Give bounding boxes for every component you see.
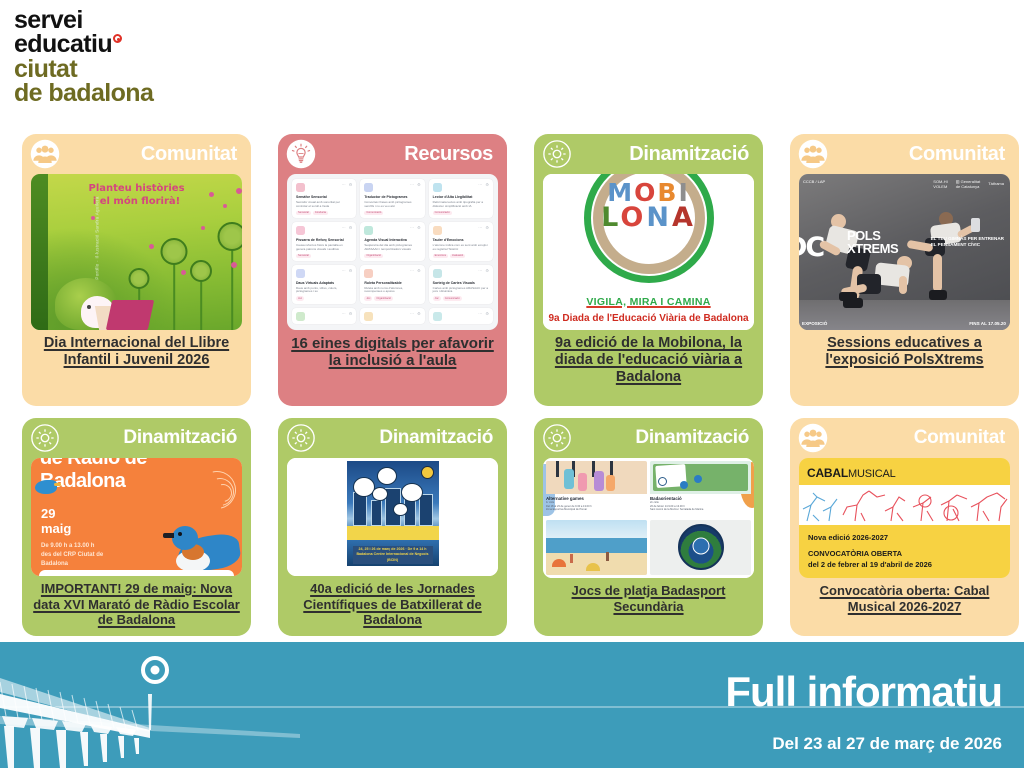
tool-tags: Joc: [296, 296, 352, 300]
cards-grid: Comunitat Text Blanca Portillo · Il·lust…: [22, 134, 1014, 636]
tool-description: Causa reforcos físics la pantalla en gen…: [296, 244, 352, 252]
tool-tag: Sensorial: [296, 211, 311, 215]
lightbulb-icon: [286, 139, 316, 169]
card-jocs-platja-badasport[interactable]: Dinamització Alternative ga: [534, 418, 763, 636]
panel-badaorientacio: Badaorientació 2n cicle20 de febrer 14.9…: [650, 461, 751, 517]
card-media-grid: Alternative games 1r cicleDel 18 al 23 d…: [543, 458, 754, 578]
tool-card[interactable]: ⋯ ⚙: [360, 308, 424, 324]
tool-description: Ruleta amb noms d'alumnes, recompenses o…: [364, 287, 420, 295]
tool-name: Ruleta Personalitzable: [364, 281, 420, 285]
photo-corner-left: CCCB / LAP: [803, 180, 825, 185]
tool-icon: [364, 312, 373, 321]
tool-menu-icon[interactable]: ⋯ ⚙: [478, 268, 490, 273]
radio-waves-icon: [190, 468, 234, 508]
tool-icon: [296, 226, 305, 235]
tool-name: Semàfor Sensorial: [296, 195, 352, 199]
tool-name: Pissarra de Reforç Sensorial: [296, 238, 352, 242]
tool-menu-icon[interactable]: ⋯ ⚙: [410, 225, 422, 230]
tool-description: Daus amb punts, xifres, colors, pictogra…: [296, 287, 352, 295]
card-media-screenshot: ⋯ ⚙Semàfor SensorialSemàfor visual amb s…: [287, 174, 498, 330]
tool-card[interactable]: ⋯ ⚙Tauler d'EmocionsL'alumne indica com …: [429, 222, 493, 261]
tool-name: Daus Virtuals Adaptats: [296, 281, 352, 285]
tool-tag: Organització: [374, 296, 393, 300]
photo-top-logos: SOM-HIVOLEM▥ Generalitatde CatalunyaTàth…: [933, 180, 1004, 189]
cabal-brand-light: MUSICAL: [848, 468, 896, 480]
card-category-label: Comunitat: [66, 143, 241, 166]
cabal-brand: CABALMUSICAL: [799, 458, 1010, 485]
cabal-info: Nova edició 2026-2027 CONVOCATÒRIA OBERT…: [799, 525, 1010, 571]
tool-card[interactable]: ⋯ ⚙Traductor de PictogramesConverteix fr…: [360, 179, 424, 218]
tool-tags: Comunicació: [364, 211, 420, 215]
photo-bottom-left: EXPOSICIÓ: [802, 321, 827, 326]
card-media-poster: MOBI LONA VIGILA, MIRA I CAMINA 9a Diada…: [543, 174, 754, 330]
tool-icon: [433, 226, 442, 235]
tool-description: Converteix frases amb pictogrames senzil…: [364, 201, 420, 209]
card-header: Dinamització: [534, 418, 763, 458]
tool-tag: Joc: [296, 296, 304, 300]
brand-mark: DC: [799, 232, 823, 263]
cabal-info-1: Nova edició 2026-2027: [808, 533, 1001, 542]
tool-icon: [296, 269, 305, 278]
panel-badasport-logo: [650, 520, 751, 576]
tool-tag: Organització: [364, 254, 383, 258]
card-category-label: Comunitat: [834, 427, 1009, 449]
tool-card[interactable]: ⋯ ⚙Daus Virtuals AdaptatsDaus amb punts,…: [292, 265, 356, 304]
card-header: Comunitat: [22, 134, 251, 174]
gear-icon: [542, 423, 572, 453]
tool-menu-icon[interactable]: ⋯ ⚙: [342, 311, 354, 316]
panel-alternative-games: Alternative games 1r cicleDel 18 al 23 d…: [546, 461, 647, 517]
tool-icon: [364, 226, 373, 235]
tool-tags: JocOrganització: [364, 296, 420, 300]
gear-icon: [286, 423, 316, 453]
tool-card[interactable]: ⋯ ⚙Semàfor SensorialSemàfor visual amb s…: [292, 179, 356, 218]
people-group-icon: [798, 423, 828, 453]
footer-date-range: Del 23 al 27 de març de 2026: [772, 734, 1002, 754]
card-title[interactable]: Dia Internacional del Llibre Infantil i …: [22, 330, 251, 377]
tool-tag: Comunicació: [364, 211, 383, 215]
photo-slogan: EL TEU GIMNÀS PER ENTRENAREL PENSAMENT C…: [931, 236, 1004, 248]
poster-month: maig: [41, 521, 71, 536]
target-icon: [141, 656, 169, 684]
cabal-brand-bold: CABAL: [807, 466, 848, 480]
tool-tags: Comunicació: [433, 211, 489, 215]
card-jornades-cientifiques[interactable]: Dinamització: [278, 418, 507, 636]
tool-name: Traductor de Pictogrames: [364, 195, 420, 199]
poster-day: 29: [41, 506, 55, 521]
tool-tags: Organització: [364, 254, 420, 258]
tool-icon: [296, 312, 305, 321]
logo-line-4: de badalona: [14, 79, 153, 107]
tool-menu-icon[interactable]: ⋯ ⚙: [410, 182, 422, 187]
tool-tag: Joc: [433, 296, 441, 300]
tool-tags: EmocionsAvaluació: [433, 254, 489, 258]
tool-tags: Sensorial: [296, 254, 352, 258]
tool-tag: Conducta: [313, 211, 328, 215]
tool-tag: Emocions: [433, 254, 448, 258]
card-header: Dinamització: [278, 418, 507, 458]
tool-description: Semàfor visual amb sonoritat per control…: [296, 201, 352, 209]
tool-description: Seqüència del dia amb pictogrames ARASAA…: [364, 244, 420, 252]
poster-word-bottom: LONA: [543, 202, 754, 233]
card-16-eines-digitals[interactable]: Recursos ⋯ ⚙Semàfor SensorialSemàfor vis…: [278, 134, 507, 406]
brand-name: POLSXTREMS: [847, 229, 898, 255]
poster-caption-2: 9a Diada de l'Educació Viària de Badalon…: [543, 313, 754, 324]
tool-description: Cartes amb pictogrames ARASAAC per a joc…: [433, 287, 489, 295]
tool-card[interactable]: ⋯ ⚙Lector d'Alta LlegibilitatReformata t…: [429, 179, 493, 218]
tool-name: Tauler d'Emocions: [433, 238, 489, 242]
newsletter-page: servei educatiu ciutat de badalona C: [0, 0, 1024, 768]
tool-icon: [433, 269, 442, 278]
poster-info-strip: 24, 25 i 26 de març de 2026 · De 9 a 14 …: [353, 546, 433, 564]
card-media-poster: 24, 25 i 26 de març de 2026 · De 9 a 14 …: [287, 458, 498, 576]
card-category-label: Dinamització: [322, 427, 497, 449]
card-category-label: Comunitat: [834, 143, 1009, 166]
cabal-musicians-illustration: [799, 485, 1010, 525]
card-category-label: Dinamització: [578, 143, 753, 166]
card-polsxtrems[interactable]: Comunitat CCCB / LAP SOM-HIVOLEM▥ Genera…: [790, 134, 1019, 406]
poster-caption-1: VIGILA, MIRA I CAMINA: [543, 296, 754, 308]
tool-tag: Joc: [364, 296, 372, 300]
card-title[interactable]: 40a edició de les Jornades Científiques …: [278, 576, 507, 636]
tool-card[interactable]: ⋯ ⚙Agenda Visual InteractivaSeqüència de…: [360, 222, 424, 261]
cabal-info-2: CONVOCATÒRIA OBERTAdel 2 de febrer al 19…: [808, 549, 1001, 571]
poster-details: De 9.00 h a 13.00 hdes del CRP Ciutat de…: [41, 542, 103, 569]
card-dia-llibre-infantil[interactable]: Comunitat Text Blanca Portillo · Il·lust…: [22, 134, 251, 406]
tool-tag: Comunicació: [443, 296, 462, 300]
people-group-icon: [30, 139, 60, 169]
bird-small-icon: [35, 480, 57, 494]
card-title[interactable]: Jocs de platja Badasport Secundària: [534, 578, 763, 622]
tool-icon: [364, 183, 373, 192]
tool-menu-icon[interactable]: ⋯ ⚙: [478, 182, 490, 187]
logo-servei-educatiu-badalona: servei educatiu ciutat de badalona: [14, 8, 153, 105]
card-cabal-musical[interactable]: Comunitat CABALMUSICAL: [790, 418, 1019, 636]
tool-icon: [433, 312, 442, 321]
tool-icon: [433, 183, 442, 192]
card-mobilona[interactable]: Dinamització MOBI LONA VIGILA, MIRA I CA…: [534, 134, 763, 406]
bird-large-icon: [168, 512, 240, 574]
tool-name: Lector d'Alta Llegibilitat: [433, 195, 489, 199]
tool-card[interactable]: ⋯ ⚙Pissarra de Reforç SensorialCausa ref…: [292, 222, 356, 261]
panel-desc: 2n cicle20 de febrer 14.9.00 a 13.30 hSa…: [650, 501, 751, 512]
tool-menu-icon[interactable]: ⋯ ⚙: [342, 225, 354, 230]
card-header: Dinamització: [534, 134, 763, 174]
poster-line-1: de Ràdio de: [40, 458, 147, 469]
card-title[interactable]: Sessions educatives a l'exposició PolsXt…: [790, 330, 1019, 377]
card-category-label: Dinamització: [66, 427, 241, 449]
footer-banner: Full informatiu Del 23 al 27 de març de …: [0, 642, 1024, 768]
tool-icon: [296, 183, 305, 192]
card-media-illustration: Text Blanca Portillo · Il·lustració Sand…: [31, 174, 242, 330]
card-title[interactable]: IMPORTANT! 29 de maig: Nova data XVI Mar…: [22, 576, 251, 636]
gear-icon: [30, 423, 60, 453]
tool-icon: [364, 269, 373, 278]
footer-title: Full informatiu: [725, 668, 1002, 716]
card-category-label: Recursos: [322, 143, 497, 166]
tool-card[interactable]: ⋯ ⚙Sorteig de Cartes VisualsCartes amb p…: [429, 265, 493, 304]
tool-card[interactable]: ⋯ ⚙: [292, 308, 356, 324]
card-media-poster: de Ràdio de Badalona 29 maig De 9.00 h a…: [31, 458, 242, 576]
tool-name: Agenda Visual Interactiva: [364, 238, 420, 242]
card-marato-radio[interactable]: Dinamització de Ràdio de Badalona 29 mai…: [22, 418, 251, 636]
card-header: Dinamització: [22, 418, 251, 458]
tool-tag: Comunicació: [433, 211, 452, 215]
card-header: Comunitat: [790, 418, 1019, 458]
card-media-poster: CABALMUSICAL: [799, 458, 1010, 578]
tool-description: L'alumne indica com es sent amb emojis i…: [433, 244, 489, 252]
tool-card[interactable]: ⋯ ⚙Ruleta PersonalitzableRuleta amb noms…: [360, 265, 424, 304]
card-title[interactable]: 9a edició de la Mobilona, la diada de l'…: [534, 330, 763, 393]
card-header: Recursos: [278, 134, 507, 174]
tool-menu-icon[interactable]: ⋯ ⚙: [478, 311, 490, 316]
tool-menu-icon[interactable]: ⋯ ⚙: [478, 225, 490, 230]
tool-menu-icon[interactable]: ⋯ ⚙: [410, 311, 422, 316]
tool-tags: SensorialConducta: [296, 211, 352, 215]
card-media-photo: CCCB / LAP SOM-HIVOLEM▥ Generalitatde Ca…: [799, 174, 1010, 330]
tool-tag: Sensorial: [296, 254, 311, 258]
tool-tags: JocComunicació: [433, 296, 489, 300]
tool-menu-icon[interactable]: ⋯ ⚙: [342, 182, 354, 187]
photo-bottom-right: FINS AL 17.05.20: [969, 321, 1006, 326]
gear-icon: [542, 139, 572, 169]
tool-name: Sorteig de Cartes Visuals: [433, 281, 489, 285]
tool-menu-icon[interactable]: ⋯ ⚙: [410, 268, 422, 273]
card-title[interactable]: 16 eines digitals per afavorir la inclus…: [278, 330, 507, 378]
panel-desc: 1r cicleDel 18 al 23 de gener de 9.30 a …: [546, 501, 647, 512]
tool-card[interactable]: ⋯ ⚙: [429, 308, 493, 324]
panel-beach-photo: [546, 520, 647, 576]
card-category-label: Dinamització: [578, 427, 753, 449]
people-group-icon: [798, 139, 828, 169]
registered-target-icon: [113, 34, 122, 43]
card-title[interactable]: Convocatòria oberta: Cabal Musical 2026-…: [790, 578, 1019, 622]
tool-tag: Avaluació: [450, 254, 465, 258]
tool-description: Reformata textos amb tipografia per a di…: [433, 201, 489, 209]
card-header: Comunitat: [790, 134, 1019, 174]
tool-menu-icon[interactable]: ⋯ ⚙: [342, 268, 354, 273]
